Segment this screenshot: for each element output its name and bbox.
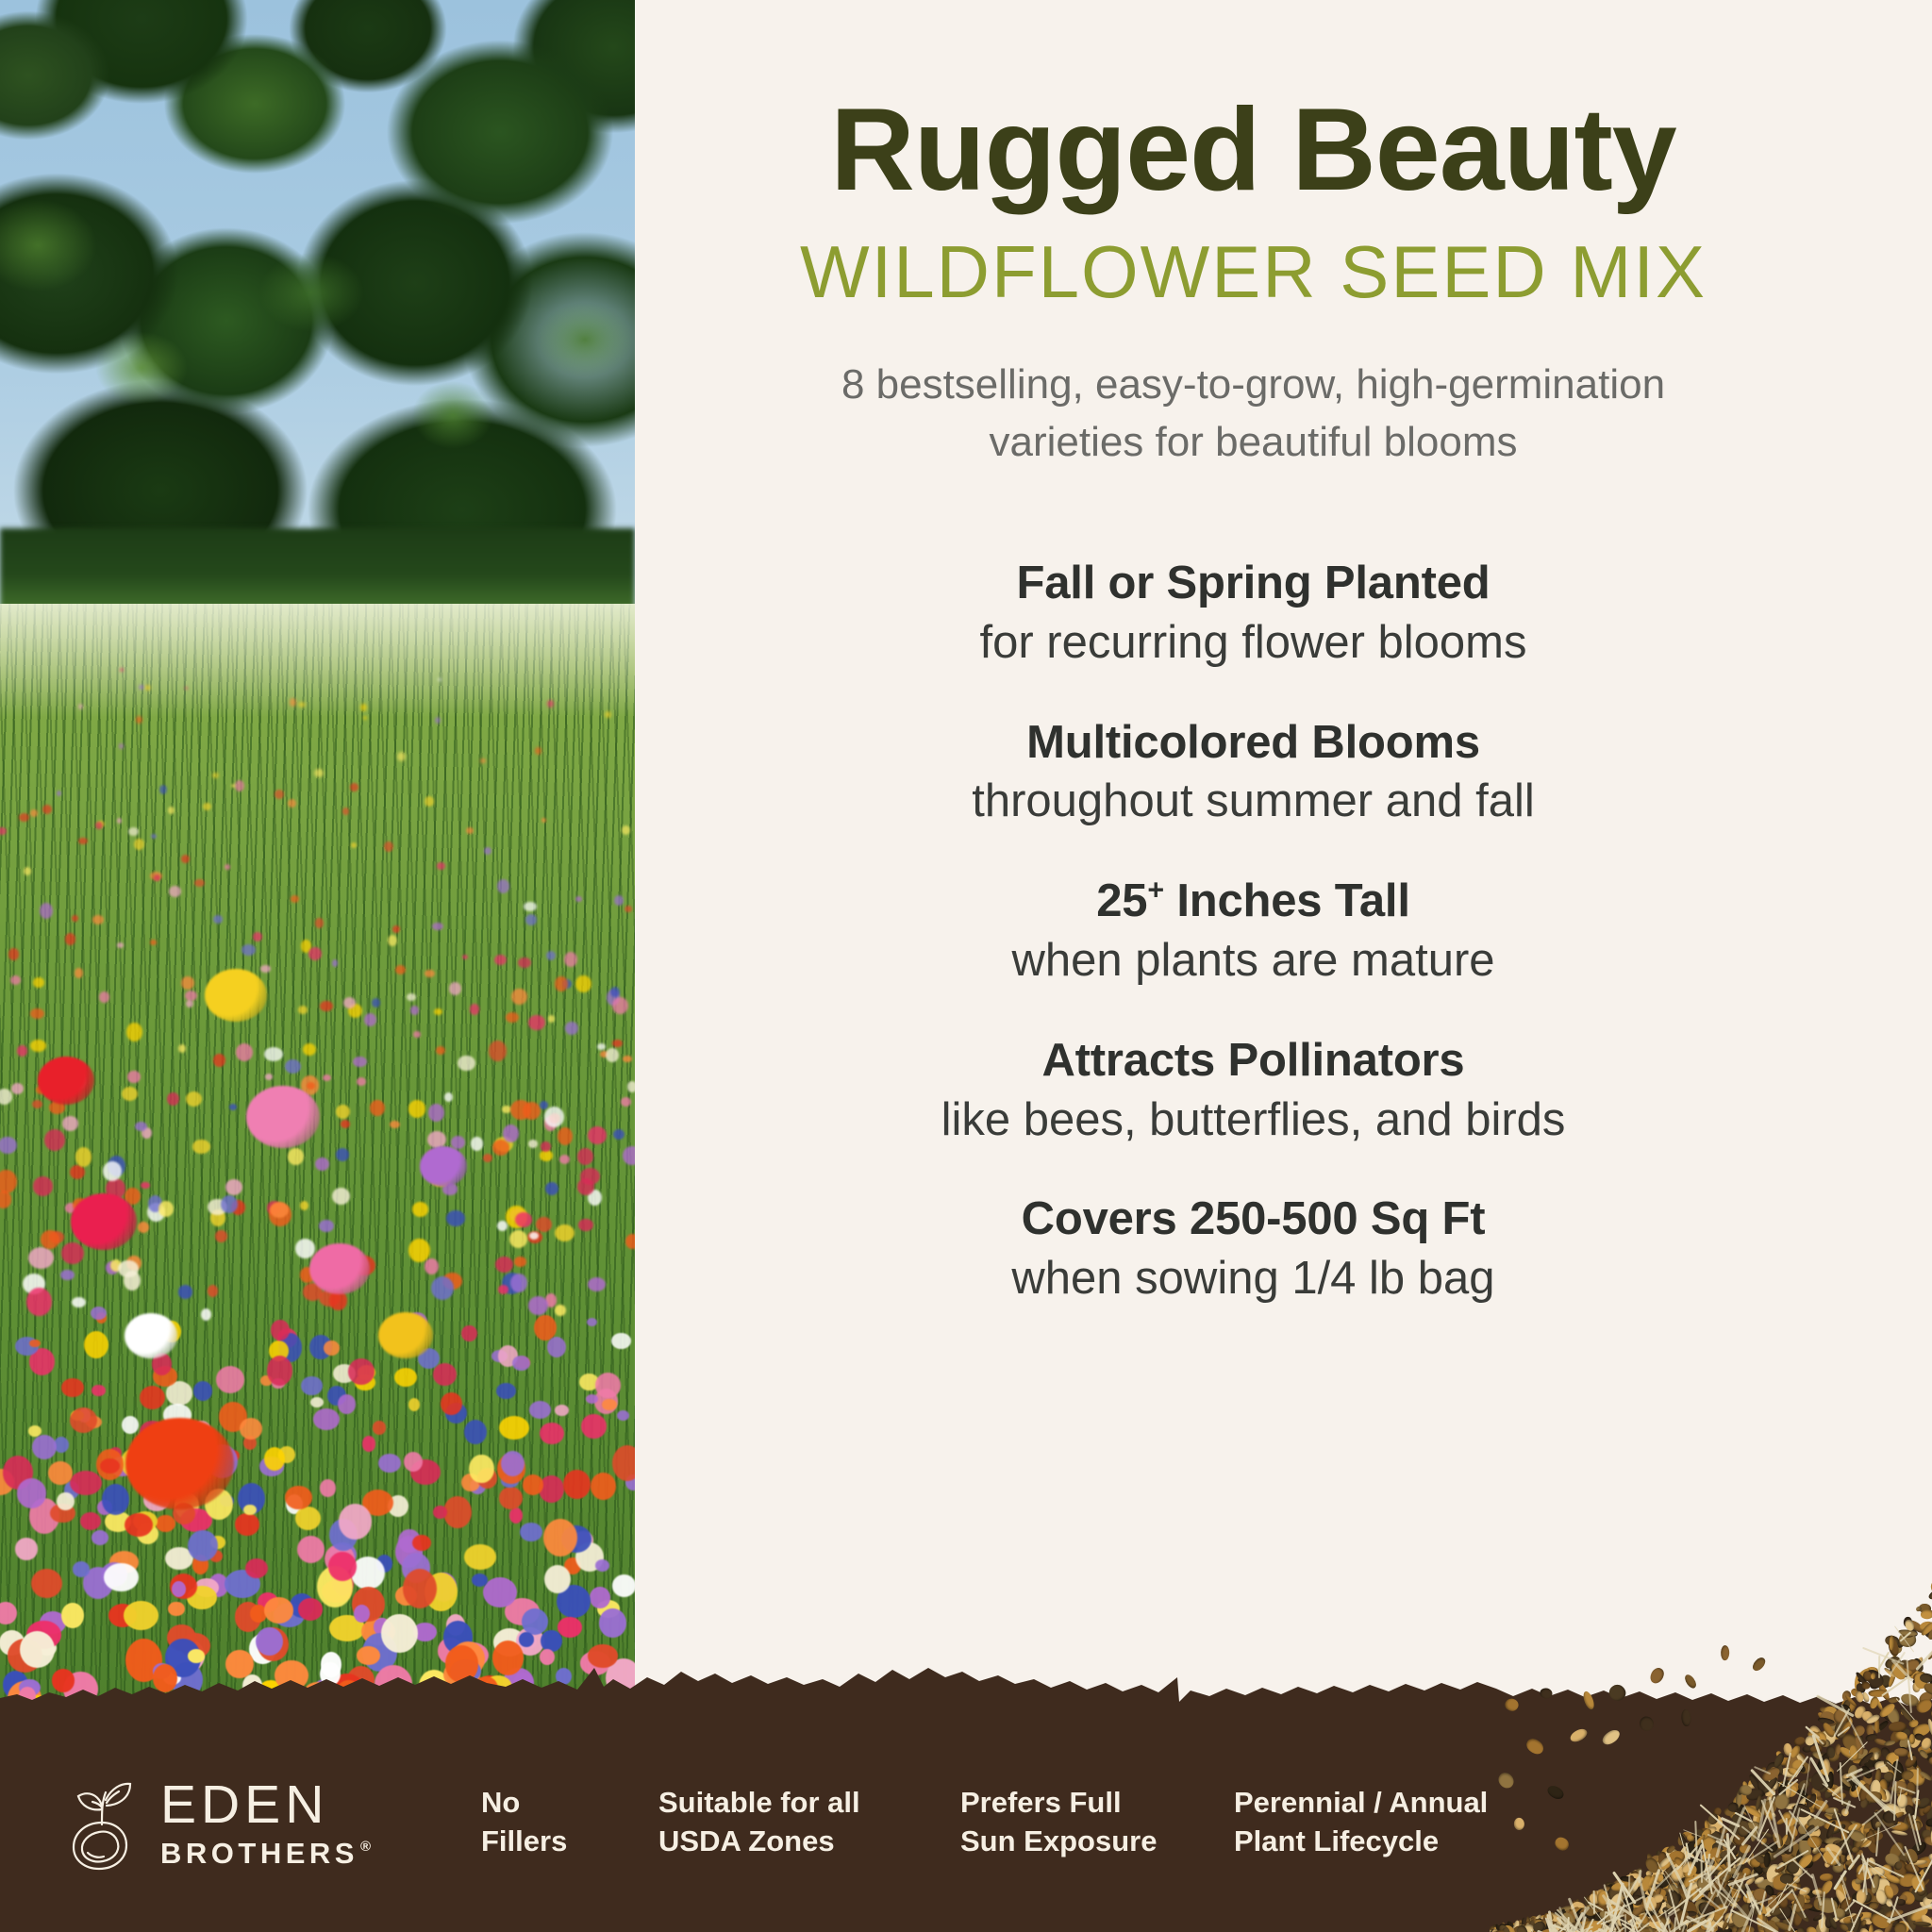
flower-bloom bbox=[169, 886, 181, 897]
flower-bloom bbox=[392, 925, 400, 933]
flower-bloom bbox=[300, 1201, 309, 1210]
flower-bloom bbox=[425, 796, 435, 807]
footer-bar: EDEN BROTHERS ® NoFillersSuitable for al… bbox=[0, 1713, 1932, 1932]
description-line-1: 8 bestselling, easy-to-grow, high-germin… bbox=[605, 357, 1902, 414]
flower-bloom bbox=[265, 1074, 273, 1080]
flower-bloom bbox=[555, 1224, 575, 1241]
flower-bloom bbox=[15, 1538, 37, 1559]
flower-bloom bbox=[510, 1274, 527, 1292]
flower-bloom bbox=[512, 1356, 530, 1372]
badge-line-2: Fillers bbox=[481, 1823, 641, 1861]
flower-bloom bbox=[52, 1669, 75, 1691]
flower-bloom bbox=[253, 932, 262, 941]
wildflower-meadow-photo bbox=[0, 0, 635, 1755]
flower-bloom bbox=[203, 803, 211, 811]
flower-bloom bbox=[60, 1270, 75, 1281]
flower-bloom bbox=[410, 1006, 420, 1014]
footer-badge: NoFillers bbox=[481, 1784, 641, 1861]
flower-bloom bbox=[564, 952, 577, 967]
flower-bloom bbox=[11, 1083, 24, 1094]
flower-bloom bbox=[290, 698, 297, 707]
flower-bloom bbox=[555, 1305, 566, 1317]
flower-bloom bbox=[185, 687, 188, 690]
flower-bloom bbox=[235, 780, 245, 791]
flower-bloom bbox=[240, 1418, 262, 1440]
flower-bloom bbox=[307, 1082, 315, 1090]
flower-bloom bbox=[264, 1047, 283, 1061]
flower-bloom bbox=[540, 1150, 553, 1160]
flower-bloom bbox=[78, 838, 87, 844]
flower-bloom bbox=[298, 1598, 324, 1621]
flower-bloom bbox=[26, 1288, 52, 1317]
flower-bloom bbox=[308, 947, 322, 960]
flower-bloom bbox=[432, 923, 443, 931]
flower-bloom bbox=[341, 1120, 350, 1128]
flower-bloom bbox=[436, 1046, 445, 1055]
flower-bloom bbox=[193, 1381, 212, 1401]
flower-bloom bbox=[509, 1507, 523, 1524]
flower-bloom bbox=[353, 1057, 367, 1068]
flower-bloom bbox=[323, 1074, 331, 1081]
flower-bloom bbox=[144, 685, 151, 691]
flower-blooms bbox=[0, 0, 635, 1755]
flower-bloom bbox=[499, 1416, 528, 1440]
flower-bloom bbox=[65, 933, 75, 944]
flower-bloom bbox=[264, 1597, 293, 1624]
flower-bloom bbox=[235, 1513, 258, 1536]
flower-bloom bbox=[215, 1230, 227, 1242]
flower-bloom bbox=[497, 1221, 508, 1232]
flower-bloom bbox=[578, 1219, 593, 1231]
flower-bloom bbox=[445, 1645, 478, 1682]
flower-bloom bbox=[78, 704, 83, 709]
footer-badge: Perennial / AnnualPlant Lifecycle bbox=[1234, 1784, 1574, 1861]
flower-bloom bbox=[496, 1383, 515, 1399]
flower-bloom bbox=[494, 955, 507, 965]
flower-bloom bbox=[362, 1436, 375, 1451]
flower-bloom bbox=[75, 1147, 92, 1167]
flower-bloom bbox=[32, 1100, 42, 1108]
flower-bloom bbox=[275, 1660, 308, 1690]
flower-bloom bbox=[24, 867, 31, 875]
flower-bloom bbox=[548, 1015, 555, 1023]
flower-bloom bbox=[558, 1127, 573, 1145]
flower-bloom bbox=[412, 1535, 431, 1551]
description-line-2: varieties for beautiful blooms bbox=[605, 414, 1902, 472]
feature-subtext: like bees, butterflies, and birds bbox=[605, 1092, 1902, 1148]
flower-bloom bbox=[509, 1230, 528, 1248]
flower-bloom bbox=[33, 977, 44, 988]
badge-line-1: No bbox=[481, 1784, 641, 1823]
flower-bloom bbox=[339, 1504, 372, 1539]
flower-bloom bbox=[61, 1603, 84, 1628]
flower-bloom bbox=[412, 1202, 428, 1217]
flower-bloom bbox=[469, 1455, 493, 1484]
flower-bloom bbox=[241, 944, 257, 956]
flower-bloom bbox=[525, 914, 537, 926]
flower-bloom bbox=[595, 1373, 622, 1398]
flower-bloom bbox=[159, 785, 168, 794]
flower-bloom bbox=[124, 1601, 158, 1630]
flower-bloom bbox=[315, 1158, 329, 1171]
flower-bloom bbox=[126, 1023, 142, 1041]
flower-bloom bbox=[117, 942, 125, 948]
flower-bloom bbox=[271, 1320, 289, 1341]
flower-bloom bbox=[62, 1116, 79, 1131]
flower-bloom bbox=[408, 1398, 420, 1411]
flower-bloom bbox=[502, 1106, 510, 1113]
flower-bloom-foreground bbox=[71, 1193, 137, 1250]
flower-bloom bbox=[520, 1523, 542, 1541]
flower-bloom bbox=[373, 1421, 386, 1434]
flower-bloom bbox=[70, 1165, 85, 1179]
flower-bloom bbox=[451, 1136, 465, 1149]
feature-heading: Attracts Pollinators bbox=[605, 1034, 1902, 1089]
flower-bloom bbox=[324, 1341, 340, 1357]
flower-bloom bbox=[431, 1276, 454, 1300]
flower-bloom bbox=[136, 716, 142, 724]
page-title: Rugged Beauty bbox=[605, 91, 1902, 209]
flower-bloom bbox=[61, 1378, 84, 1397]
flower-bloom bbox=[28, 1247, 53, 1269]
flower-bloom bbox=[449, 982, 461, 995]
flower-bloom bbox=[128, 827, 139, 837]
flower-bloom bbox=[558, 1617, 581, 1638]
flower-bloom bbox=[536, 1217, 552, 1232]
flower-bloom bbox=[546, 951, 556, 960]
flower-bloom bbox=[612, 1574, 635, 1597]
flower-bloom bbox=[464, 1544, 496, 1570]
flower-bloom bbox=[591, 1473, 616, 1500]
flower-bloom bbox=[544, 1565, 571, 1593]
flower-bloom bbox=[364, 1013, 377, 1027]
flower-bloom bbox=[117, 818, 122, 824]
flower-bloom bbox=[41, 1230, 59, 1249]
flower-bloom bbox=[178, 1285, 193, 1299]
flower-bloom bbox=[225, 1179, 242, 1195]
feature-item: Attracts Pollinatorslike bees, butterfli… bbox=[605, 1034, 1902, 1148]
flower-bloom bbox=[444, 1092, 453, 1102]
feature-item: Covers 250-500 Sq Ftwhen sowing 1/4 lb b… bbox=[605, 1192, 1902, 1307]
footer-badge: Prefers FullSun Exposure bbox=[960, 1784, 1187, 1861]
flower-bloom bbox=[503, 1124, 519, 1142]
flower-bloom bbox=[141, 1182, 150, 1190]
logo-brothers-word: BROTHERS bbox=[160, 1839, 358, 1868]
footer-badges: NoFillersSuitable for allUSDA ZonesPrefe… bbox=[366, 1784, 1932, 1861]
flower-bloom bbox=[135, 1122, 147, 1131]
flower-bloom bbox=[497, 879, 509, 893]
flower-bloom bbox=[313, 1408, 340, 1431]
flower-bloom bbox=[381, 1614, 418, 1653]
flower-bloom bbox=[31, 1569, 62, 1598]
flower-bloom bbox=[122, 1087, 139, 1102]
flower-bloom bbox=[48, 1461, 73, 1486]
flower-bloom bbox=[75, 968, 83, 977]
brand-logo[interactable]: EDEN BROTHERS ® bbox=[64, 1774, 366, 1872]
flower-bloom bbox=[471, 1137, 483, 1150]
feature-heading: 25+ Inches Tall bbox=[605, 874, 1902, 929]
flower-bloom bbox=[498, 1285, 508, 1294]
flower-bloom bbox=[372, 998, 380, 1008]
flower-bloom bbox=[139, 685, 144, 690]
flower-bloom bbox=[336, 1680, 361, 1707]
flower-bloom bbox=[61, 1242, 84, 1264]
flower-bloom bbox=[288, 799, 296, 808]
feature-heading: Multicolored Blooms bbox=[605, 716, 1902, 771]
flower-bloom bbox=[245, 1558, 268, 1578]
flower-bloom bbox=[357, 1077, 366, 1086]
flower-bloom bbox=[575, 896, 582, 902]
flower-bloom bbox=[32, 1435, 57, 1460]
flower-bloom bbox=[140, 1386, 165, 1409]
flower-bloom bbox=[470, 1004, 479, 1014]
flower-bloom bbox=[575, 975, 591, 992]
flower-bloom bbox=[540, 1101, 548, 1110]
badge-line-1: Perennial / Annual bbox=[1234, 1784, 1574, 1823]
flower-bloom bbox=[92, 915, 104, 924]
flower-bloom bbox=[320, 1479, 336, 1496]
flower-bloom bbox=[540, 1423, 564, 1445]
flower-bloom bbox=[304, 1682, 332, 1704]
badge-line-2: USDA Zones bbox=[658, 1823, 911, 1861]
flower-bloom bbox=[332, 959, 339, 967]
flower-bloom bbox=[314, 769, 324, 778]
flower-bloom bbox=[407, 993, 416, 1000]
flower-bloom bbox=[464, 1420, 487, 1444]
flower-bloom bbox=[264, 1447, 285, 1471]
flower-bloom bbox=[104, 1563, 138, 1591]
flower-bloom bbox=[384, 841, 393, 852]
flower-bloom bbox=[545, 1182, 558, 1195]
flower-bloom bbox=[425, 1258, 439, 1274]
flower-bloom bbox=[555, 976, 568, 991]
flower-bloom bbox=[514, 1257, 526, 1266]
feature-subtext: when plants are mature bbox=[605, 933, 1902, 989]
flower-bloom bbox=[342, 808, 349, 815]
flower-bloom bbox=[462, 955, 468, 959]
flower-bloom bbox=[229, 1104, 237, 1110]
flower-bloom bbox=[332, 1188, 350, 1205]
flower-bloom bbox=[484, 847, 491, 855]
flower-bloom bbox=[310, 1397, 324, 1407]
flower-bloom bbox=[528, 1140, 538, 1148]
flower-bloom bbox=[124, 1271, 141, 1291]
flower-bloom bbox=[17, 1045, 27, 1057]
flower-bloom bbox=[555, 1405, 569, 1416]
flower-bloom bbox=[10, 975, 21, 985]
flower-bloom bbox=[0, 1089, 12, 1105]
flower-bloom bbox=[270, 1202, 289, 1218]
flower-bloom bbox=[178, 1044, 186, 1053]
flower-bloom bbox=[92, 1530, 108, 1545]
flower-bloom bbox=[0, 827, 7, 835]
flower-bloom bbox=[256, 1627, 283, 1656]
flower-bloom bbox=[351, 1557, 385, 1590]
flower-bloom bbox=[518, 958, 530, 968]
feature-heading-superscript: + bbox=[1147, 874, 1164, 907]
flower-bloom bbox=[44, 1129, 65, 1151]
flower-bloom bbox=[397, 752, 406, 762]
flower-bloom bbox=[499, 1487, 523, 1509]
flower-bloom bbox=[33, 1176, 53, 1196]
flower-bloom bbox=[348, 1358, 375, 1385]
flower-bloom bbox=[357, 1646, 380, 1665]
flower-bloom bbox=[221, 1195, 238, 1213]
flower-bloom bbox=[95, 822, 102, 829]
flower-bloom bbox=[72, 915, 78, 922]
flower-bloom bbox=[540, 1649, 555, 1665]
flower-bloom-foreground bbox=[246, 1086, 320, 1148]
flower-bloom bbox=[586, 1394, 598, 1404]
flower-bloom bbox=[524, 902, 537, 912]
flower-bloom bbox=[99, 991, 108, 1003]
flower-bloom bbox=[158, 1201, 174, 1217]
flower-bloom bbox=[390, 1121, 400, 1128]
flower-bloom bbox=[408, 1100, 426, 1118]
flower-bloom bbox=[208, 1285, 218, 1297]
logo-text-eden: EDEN bbox=[160, 1778, 375, 1832]
flower-bloom-foreground bbox=[420, 1146, 467, 1187]
flower-bloom bbox=[138, 1222, 149, 1233]
flower-bloom bbox=[360, 704, 367, 711]
feature-subtext: for recurring flower blooms bbox=[605, 615, 1902, 671]
feature-heading: Covers 250-500 Sq Ft bbox=[605, 1192, 1902, 1247]
flower-bloom bbox=[556, 1668, 572, 1685]
flower-bloom bbox=[466, 827, 474, 835]
flower-bloom bbox=[102, 1484, 129, 1514]
flower-bloom bbox=[168, 1602, 184, 1617]
feature-item: Multicolored Bloomsthroughout summer and… bbox=[605, 716, 1902, 830]
flower-bloom bbox=[19, 1687, 36, 1706]
flower-bloom bbox=[103, 1161, 122, 1181]
content-panel: Rugged Beauty WILDFLOWER SEED MIX 8 best… bbox=[635, 0, 1932, 1755]
flower-bloom bbox=[354, 1605, 370, 1623]
flower-bloom bbox=[134, 839, 144, 850]
flower-bloom bbox=[437, 862, 445, 870]
feature-heading: Fall or Spring Planted bbox=[605, 557, 1902, 611]
flower-bloom bbox=[446, 1210, 464, 1226]
flower-bloom bbox=[443, 1496, 472, 1529]
flower-bloom bbox=[617, 1410, 629, 1421]
feature-subtext: throughout summer and fall bbox=[605, 774, 1902, 829]
flower-bloom bbox=[186, 1000, 193, 1008]
flower-bloom bbox=[519, 1632, 534, 1647]
flower-bloom bbox=[350, 783, 358, 792]
flower-bloom bbox=[602, 1399, 616, 1410]
flower-bloom bbox=[125, 1513, 153, 1537]
flower-bloom bbox=[547, 1337, 566, 1357]
feature-item: Fall or Spring Plantedfor recurring flow… bbox=[605, 557, 1902, 671]
flower-bloom bbox=[336, 1105, 350, 1119]
flower-bloom bbox=[0, 1191, 11, 1208]
flower-bloom bbox=[458, 1056, 475, 1072]
flower-bloom bbox=[474, 1676, 498, 1701]
flower-bloom bbox=[151, 834, 157, 840]
flower-bloom bbox=[212, 773, 219, 778]
flower-bloom bbox=[168, 807, 175, 814]
flower-bloom bbox=[122, 1416, 139, 1435]
flower-bloom bbox=[588, 1277, 606, 1291]
feature-subtext: when sowing 1/4 lb bag bbox=[605, 1251, 1902, 1307]
flower-bloom bbox=[127, 1071, 141, 1084]
flower-bloom bbox=[403, 1569, 437, 1608]
page-description: 8 bestselling, easy-to-grow, high-germin… bbox=[605, 357, 1902, 471]
flower-bloom bbox=[483, 1154, 492, 1162]
flower-bloom bbox=[119, 743, 125, 749]
flower-bloom bbox=[57, 1492, 74, 1510]
flower-bloom bbox=[0, 1602, 17, 1624]
flower-bloom bbox=[201, 1308, 211, 1321]
flower-bloom bbox=[30, 1008, 44, 1020]
flower-bloom bbox=[563, 1470, 591, 1499]
flower-bloom bbox=[461, 1325, 477, 1342]
flower-bloom bbox=[528, 1296, 548, 1315]
logo-text-brothers: BROTHERS ® bbox=[160, 1839, 375, 1868]
flower-bloom bbox=[506, 1012, 519, 1023]
flower-bloom bbox=[92, 1385, 105, 1396]
flower-bloom bbox=[547, 700, 554, 708]
flower-bloom bbox=[395, 965, 406, 974]
flower-bloom bbox=[285, 1059, 300, 1074]
flower-bloom bbox=[30, 809, 39, 817]
flower-bloom bbox=[612, 1445, 635, 1481]
flower-bloom bbox=[565, 1022, 577, 1035]
flower-bloom bbox=[172, 1581, 186, 1597]
flower-bloom-foreground bbox=[205, 969, 267, 1022]
flower-bloom bbox=[29, 1340, 41, 1348]
flower-bloom bbox=[541, 818, 546, 823]
flower-bloom bbox=[511, 989, 526, 1005]
flower-bloom bbox=[194, 879, 205, 887]
flower-bloom bbox=[288, 1148, 304, 1165]
flower-bloom bbox=[543, 1519, 577, 1557]
page-subtitle: WILDFLOWER SEED MIX bbox=[605, 234, 1902, 311]
flower-bloom-foreground bbox=[378, 1312, 433, 1358]
flower-bloom bbox=[84, 1331, 108, 1358]
flower-bloom bbox=[188, 1649, 205, 1663]
flower-bloom bbox=[225, 1650, 253, 1678]
flower-bloom bbox=[363, 716, 367, 720]
feature-list: Fall or Spring Plantedfor recurring flow… bbox=[605, 557, 1902, 1352]
flower-bloom bbox=[408, 1239, 429, 1262]
flower-bloom bbox=[57, 791, 61, 796]
flower-bloom bbox=[580, 1168, 600, 1185]
flower-bloom bbox=[291, 895, 299, 903]
flower-bloom bbox=[73, 1561, 91, 1577]
flower-bloom bbox=[529, 1401, 551, 1419]
flower-bloom bbox=[480, 758, 486, 763]
flower-bloom bbox=[0, 1137, 17, 1154]
flower-bloom bbox=[351, 842, 357, 847]
flower-bloom bbox=[8, 948, 19, 959]
flower-bloom bbox=[489, 1041, 507, 1060]
flower-bloom bbox=[19, 813, 28, 822]
flower-bloom bbox=[438, 678, 441, 681]
flower-bloom bbox=[120, 668, 125, 673]
flower-bloom bbox=[588, 1644, 618, 1667]
flower-bloom bbox=[319, 1220, 334, 1233]
flower-bloom bbox=[433, 1363, 457, 1386]
flower-bloom bbox=[216, 1366, 245, 1393]
flower-bloom bbox=[154, 874, 160, 880]
flower-bloom bbox=[425, 970, 435, 978]
flower-bloom bbox=[523, 1102, 541, 1120]
flower-bloom bbox=[20, 1631, 55, 1668]
flower-bloom bbox=[320, 1001, 332, 1011]
badge-line-1: Prefers Full bbox=[960, 1784, 1187, 1823]
flower-bloom bbox=[370, 1100, 385, 1117]
flower-bloom bbox=[523, 1474, 543, 1495]
